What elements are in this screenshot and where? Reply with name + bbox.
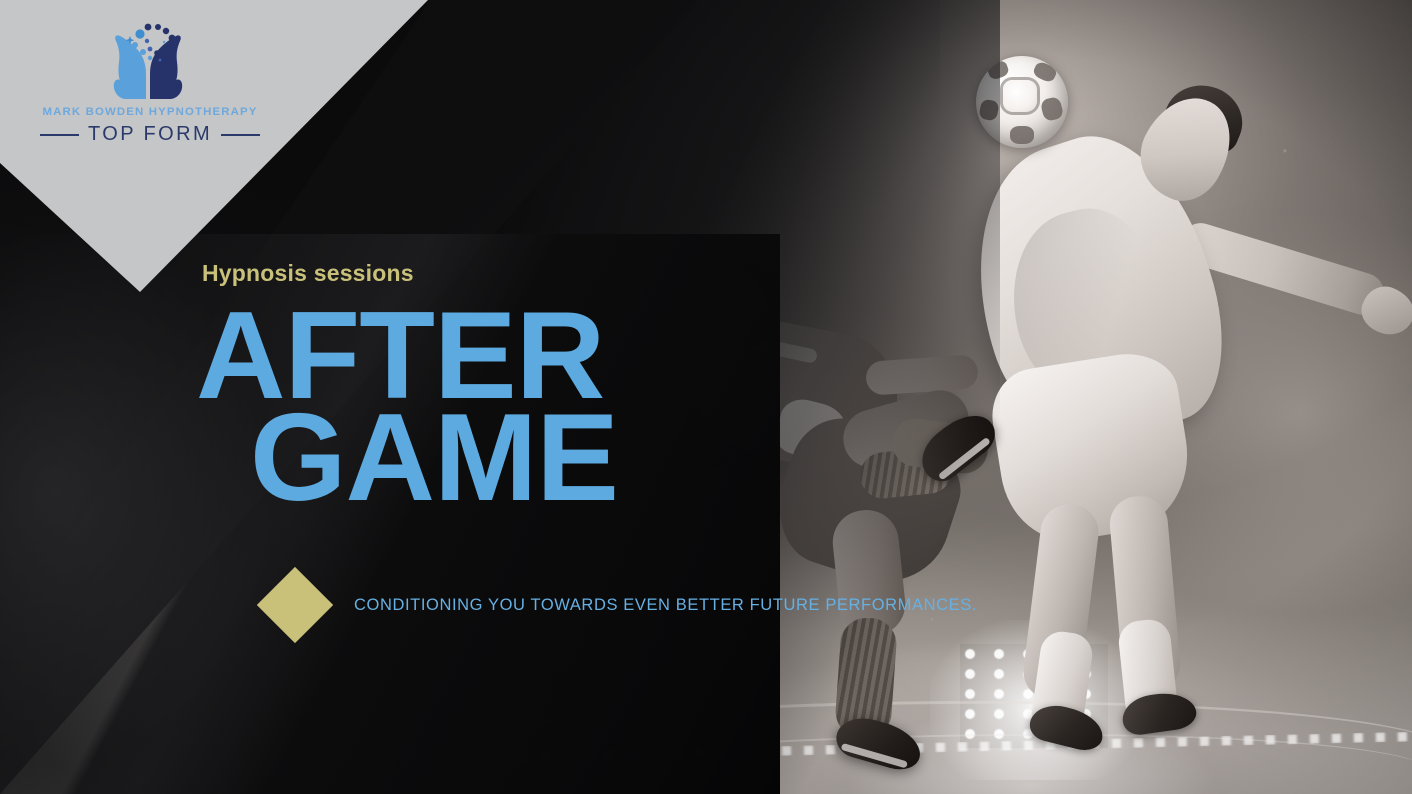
tagline-text: CONDITIONING YOU TOWARDS EVEN BETTER FUT… xyxy=(354,596,977,615)
page-title: AFTER GAME xyxy=(196,306,618,509)
brand-subtitle: TOP FORM xyxy=(88,123,212,146)
rule-right xyxy=(221,134,260,136)
after-game-banner: MARK BOWDEN HYPNOTHERAPY TOP FORM Hypnos… xyxy=(0,0,1412,794)
gold-diamond-icon xyxy=(257,567,333,643)
headline-line-2: GAME xyxy=(196,408,618,510)
rule-left xyxy=(40,134,79,136)
brand-tagline-row: TOP FORM xyxy=(40,123,260,146)
eyebrow-text: Hypnosis sessions xyxy=(202,260,414,287)
brand-name: MARK BOWDEN HYPNOTHERAPY xyxy=(40,106,260,118)
brand-logo[interactable]: MARK BOWDEN HYPNOTHERAPY TOP FORM xyxy=(40,22,260,146)
tagline-row: CONDITIONING YOU TOWARDS EVEN BETTER FUT… xyxy=(268,578,977,632)
dual-head-brain-icon xyxy=(102,22,198,100)
soccer-player-heading-icon xyxy=(970,60,1410,720)
